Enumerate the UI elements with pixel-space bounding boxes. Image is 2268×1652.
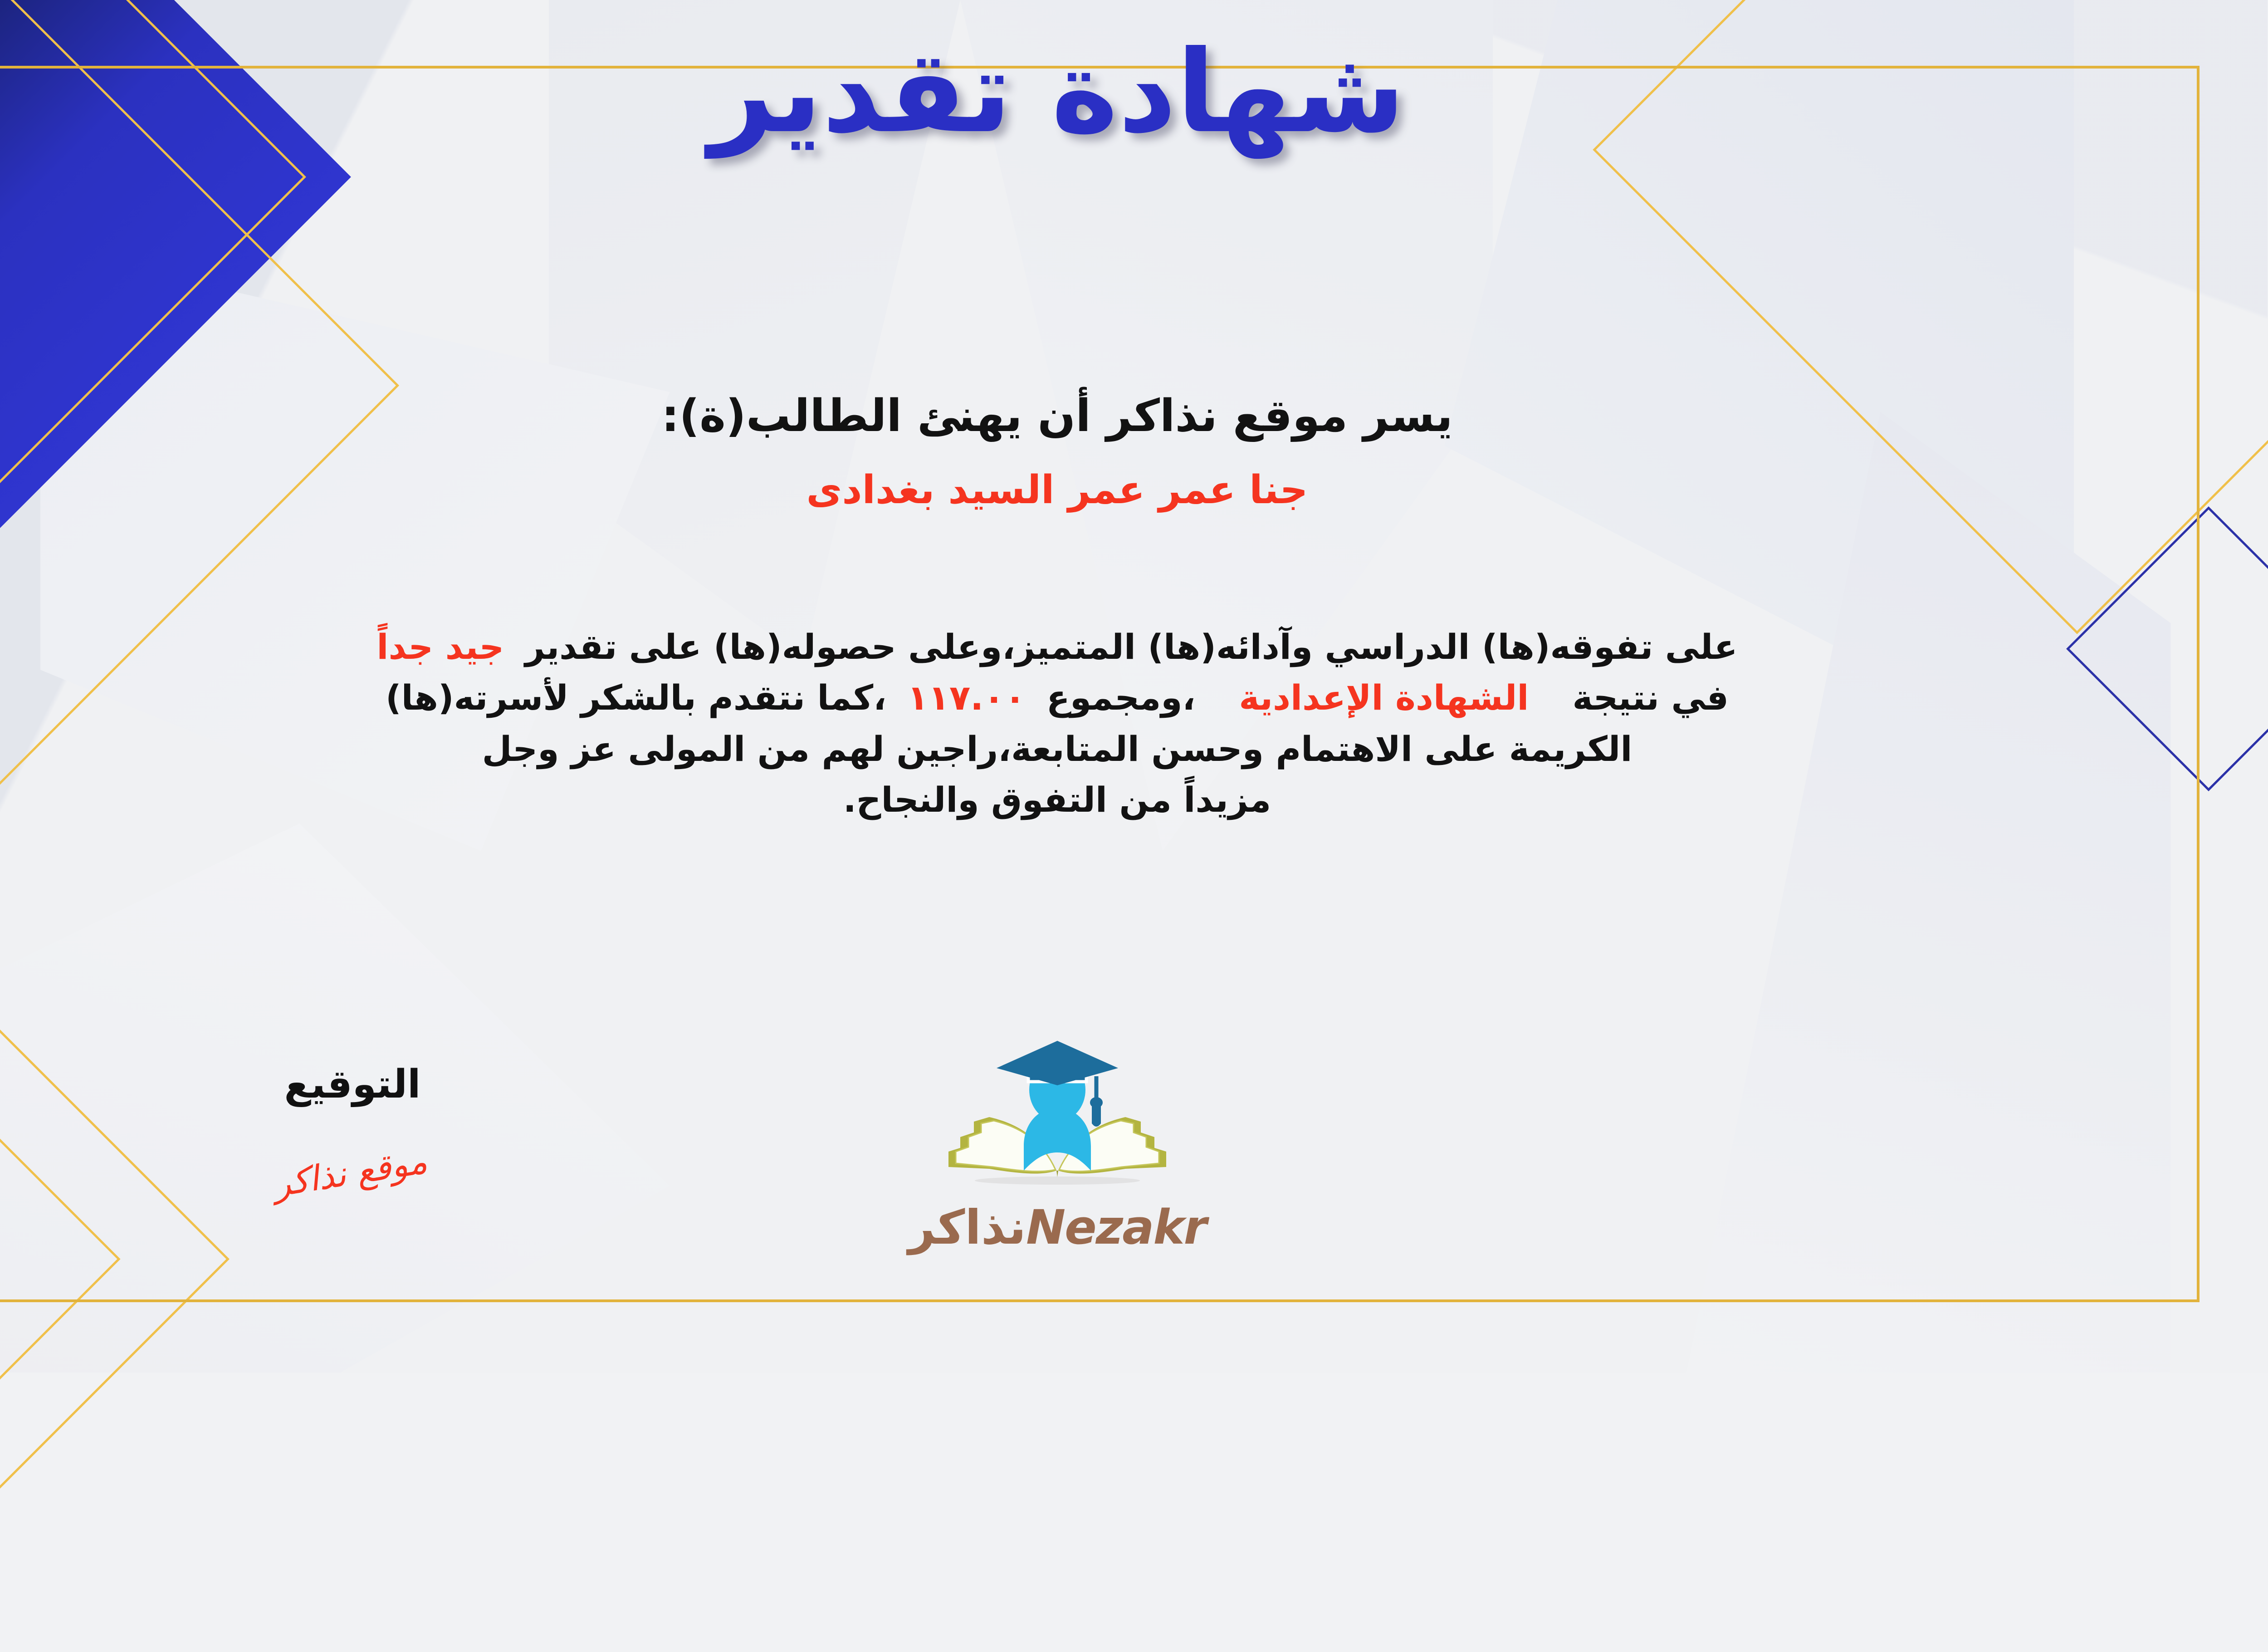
total-score: ١١٧.٠٠ — [908, 677, 1026, 718]
greeting-text: يسر موقع نذاكر أن يهنئ الطالب(ة): — [0, 390, 2268, 442]
exam-name: الشهادة الإعدادية — [1239, 677, 1529, 718]
certificate-content: شهادة تقدير يسر موقع نذاكر أن يهنئ الطال… — [0, 0, 2268, 1373]
body-line-4: مزيداً من التفوق والنجاح. — [0, 775, 2186, 825]
body-line-1: على تفوقه(ها) الدراسي وآدائه(ها) المتميز… — [0, 622, 2186, 672]
student-name: جنا عمر عمر السيد بغدادى — [0, 467, 2268, 513]
exam-prefix: في نتيجة — [1573, 677, 1729, 718]
total-prefix: ،ومجموع — [1047, 677, 1196, 718]
logo-latin-text: Nezakr — [1026, 1200, 1207, 1255]
logo-wordmark: Nezakrنذاكر — [890, 1200, 1226, 1255]
body-line-2: في نتيجةالشهادة الإعدادية،ومجموع١١٧.٠٠،ك… — [0, 672, 2186, 723]
signature-mark: موقع نذاكر — [204, 1130, 497, 1215]
site-logo: Nezakrنذاكر — [890, 1034, 1226, 1255]
logo-arabic-text: نذاكر — [909, 1200, 1026, 1255]
certificate-body: على تفوقه(ها) الدراسي وآدائه(ها) المتميز… — [0, 622, 2186, 826]
body-line-1-text: على تفوقه(ها) الدراسي وآدائه(ها) المتميز… — [525, 627, 1738, 667]
thanks-text: ،كما نتقدم بالشكر لأسرته(ها) — [386, 677, 887, 718]
certificate-title: شهادة تقدير — [0, 25, 2268, 159]
graduation-book-icon — [931, 1034, 1185, 1198]
signature-label: التوقيع — [235, 1062, 471, 1107]
grade-value: جيد جداً — [377, 627, 504, 667]
body-line-3: الكريمة على الاهتمام وحسن المتابعة،راجين… — [0, 724, 2186, 775]
